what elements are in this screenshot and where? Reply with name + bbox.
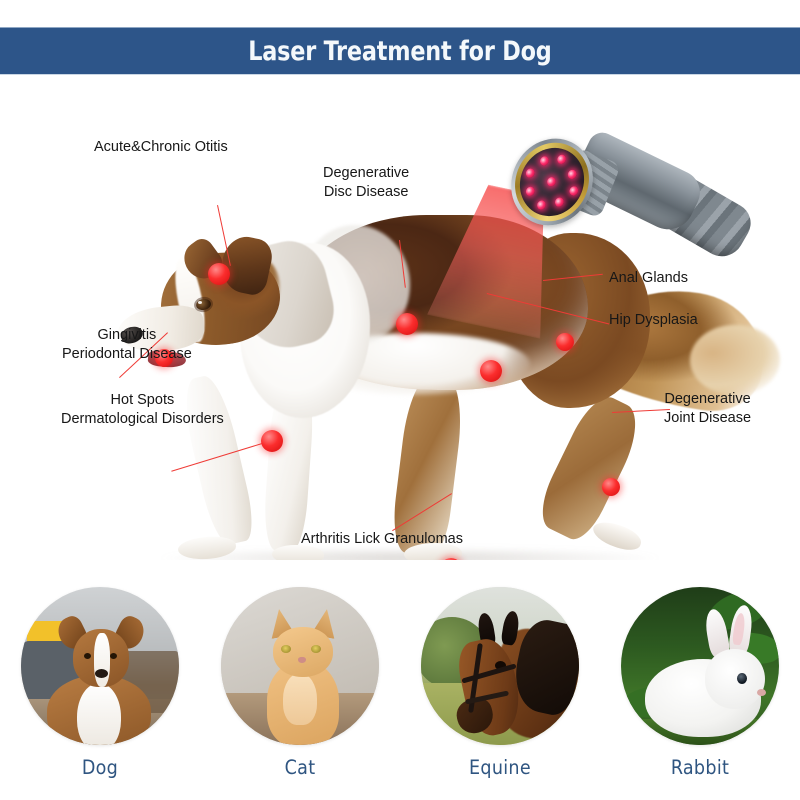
page-header-banner: Laser Treatment for Dog <box>0 27 800 75</box>
callout-line: Disc Disease <box>323 183 409 202</box>
callout-dot-hip <box>480 360 502 382</box>
callout-line: Degenerative <box>664 390 751 409</box>
species-thumbnail-rabbit[interactable] <box>621 587 779 745</box>
laser-device <box>480 130 780 280</box>
thumb-dog-blaze <box>94 633 110 687</box>
callout-line: Acute&Chronic Otitis <box>94 138 228 157</box>
callout-line: Degenerative <box>323 164 409 183</box>
thumb-cat-chest <box>283 673 317 725</box>
thumb-rabbit-nose <box>757 689 766 696</box>
laser-treatment-infographic: Laser Treatment for Dog <box>0 0 800 800</box>
thumb-cat-eye-left <box>281 645 291 653</box>
laser-led <box>525 185 536 197</box>
dog-tail-tip <box>690 325 780 395</box>
callout-label-hot-spots: Hot Spots Dermatological Disorders <box>61 391 224 429</box>
species-thumbnail-dog[interactable] <box>21 587 179 745</box>
laser-led <box>539 155 550 167</box>
species-strip: Dog Cat <box>0 560 800 800</box>
callout-dot-joint <box>602 478 620 496</box>
callout-label-hip-dysplasia: Hip Dysplasia <box>609 311 698 330</box>
thumb-dog-chest <box>77 683 121 745</box>
callout-line: Joint Disease <box>664 409 751 428</box>
thumb-rabbit-head <box>705 649 765 709</box>
callout-dot-anal-glands <box>556 333 574 351</box>
callout-line: Hip Dysplasia <box>609 311 698 330</box>
species-label-dog: Dog <box>0 756 200 779</box>
callout-label-disc-disease: Degenerative Disc Disease <box>323 164 409 202</box>
dog-hind-leg-right <box>531 389 648 546</box>
callout-label-anal-glands: Anal Glands <box>609 269 688 288</box>
callout-dot-disc <box>396 313 418 335</box>
callout-line: Dermatological Disorders <box>61 410 224 429</box>
callout-dot-otitis <box>208 263 230 285</box>
callout-label-arthritis: Arthritis Lick Granulomas <box>301 530 463 549</box>
thumb-cat-eye-right <box>311 645 321 653</box>
thumb-rabbit-eye <box>737 673 747 684</box>
callout-label-gingivitis: Gingivitis Periodontal Disease <box>62 326 192 364</box>
dog-eye-glint <box>198 301 202 304</box>
species-thumbnail-cat[interactable] <box>221 587 379 745</box>
species-label-rabbit: Rabbit <box>600 756 800 779</box>
species-item-rabbit[interactable]: Rabbit <box>600 587 800 779</box>
thumb-dog-eye-right <box>110 653 117 659</box>
laser-led <box>554 196 565 208</box>
callout-label-otitis: Acute&Chronic Otitis <box>94 138 228 157</box>
species-label-equine: Equine <box>400 756 600 779</box>
laser-led <box>536 199 547 211</box>
species-item-equine[interactable]: Equine <box>400 587 600 779</box>
callout-line: Hot Spots <box>61 391 224 410</box>
callout-line: Periodontal Disease <box>62 345 192 364</box>
thumb-dog-nose <box>95 669 108 678</box>
callout-line: Arthritis Lick Granulomas <box>301 530 463 549</box>
thumb-cat-nose <box>298 657 306 663</box>
dog-hind-paw-right <box>590 518 644 554</box>
callout-line: Gingivitis <box>62 326 192 345</box>
laser-led <box>525 167 536 179</box>
callout-line: Anal Glands <box>609 269 688 288</box>
callout-label-joint-disease: Degenerative Joint Disease <box>664 390 751 428</box>
species-label-cat: Cat <box>200 756 400 779</box>
laser-led <box>556 153 567 165</box>
species-item-cat[interactable]: Cat <box>200 587 400 779</box>
laser-led <box>546 176 557 188</box>
laser-led <box>567 168 578 180</box>
species-thumbnail-equine[interactable] <box>421 587 579 745</box>
callout-dot-hotspots <box>261 430 283 452</box>
page-title: Laser Treatment for Dog <box>248 36 551 67</box>
species-item-dog[interactable]: Dog <box>0 587 200 779</box>
laser-led <box>568 185 579 197</box>
thumb-dog-eye-left <box>84 653 91 659</box>
